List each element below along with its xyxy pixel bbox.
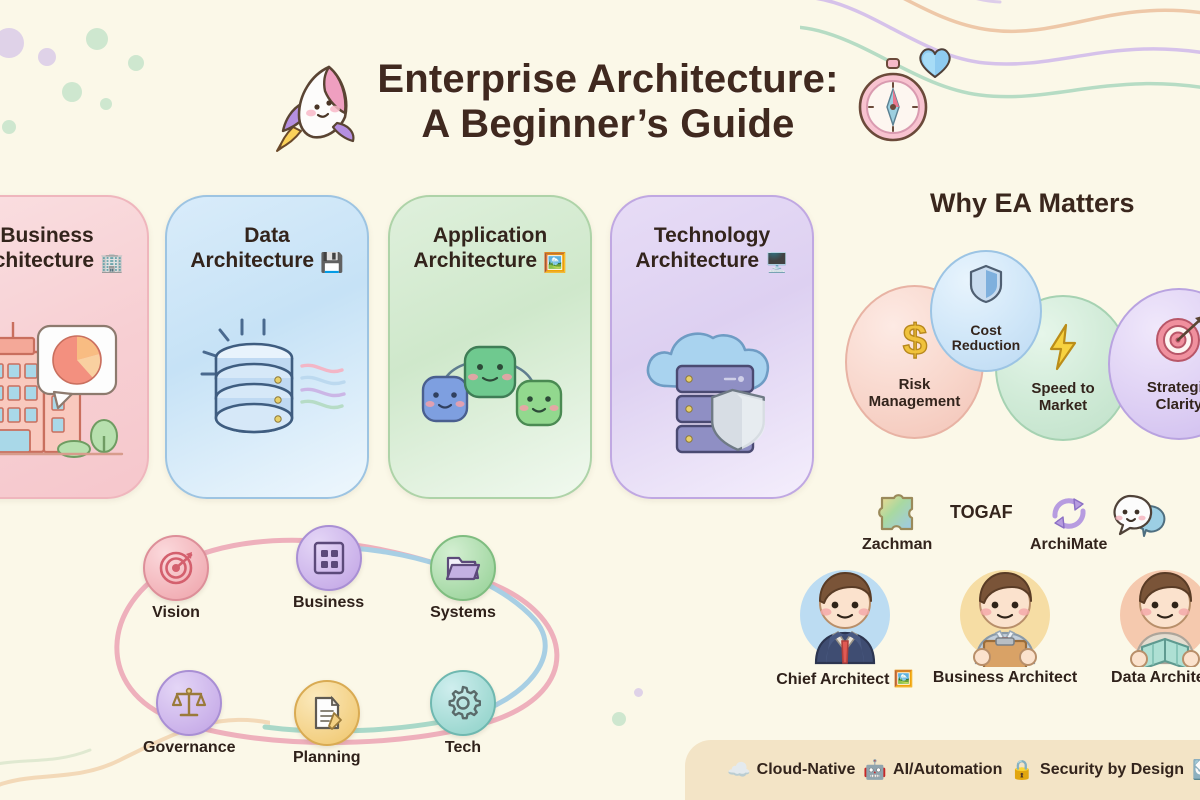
dollar-sign-icon: $ xyxy=(893,315,937,365)
trend-cloud-native[interactable]: ☁️ Cloud-Native xyxy=(727,761,855,780)
svg-text:$: $ xyxy=(902,316,926,365)
pillar-title: Technology Architecture 🖥️ xyxy=(629,223,794,276)
trend-security-by-design[interactable]: 🔒 Security by Design xyxy=(1010,761,1184,780)
title-line-2: A Beginner’s Guide xyxy=(377,102,838,147)
cycle-node-label: Vision xyxy=(152,604,200,622)
avatar xyxy=(1106,555,1200,667)
pillar-illustration-technology xyxy=(612,276,812,497)
framework-label: TOGAF xyxy=(950,502,1013,523)
decor-dot xyxy=(634,688,643,697)
trend-label: Cloud-Native xyxy=(757,761,856,779)
pillar-illustration-data xyxy=(167,276,367,497)
scales-balance-icon xyxy=(171,685,207,721)
pillar-title: Application Architecture 🖼️ xyxy=(407,223,572,276)
gear-icon xyxy=(445,685,481,721)
role-label: Data Architect xyxy=(1111,669,1200,687)
cycle-node-tech[interactable]: Tech xyxy=(430,670,496,757)
pillar-card-data-architecture[interactable]: Data Architecture 💾 xyxy=(165,195,369,499)
benefit-label: Cost Reduction xyxy=(952,323,1020,370)
framework-label: ArchiMate xyxy=(1030,536,1107,554)
decor-dot xyxy=(128,55,144,71)
role-business-architect[interactable]: Business Architect xyxy=(930,555,1080,687)
role-label: Chief Architect 🖼️ xyxy=(776,669,914,689)
pillar-illustration-business xyxy=(0,276,147,497)
framework-chat-bubble[interactable] xyxy=(1110,494,1172,538)
benefit-bubble-strategic-clarity[interactable]: Strategic Clarity xyxy=(1108,288,1200,440)
pillar-card-business-architecture[interactable]: Business Architecture 🏢 xyxy=(0,195,149,499)
framework-label: Zachman xyxy=(862,536,932,554)
cycle-node-governance[interactable]: Governance xyxy=(143,670,235,757)
title-line-1: Enterprise Architecture: xyxy=(377,57,838,102)
framed-picture-icon: 🖼️ xyxy=(894,671,914,688)
pillar-title-line-1: Technology xyxy=(654,224,770,247)
cycle-node-label: Tech xyxy=(445,739,481,757)
office-building-icon: 🏢 xyxy=(100,253,124,274)
lock-icon: 🔒 xyxy=(1010,761,1034,780)
cycle-node-label: Governance xyxy=(143,739,235,757)
avatar xyxy=(786,555,904,667)
role-label: Business Architect xyxy=(933,669,1077,687)
pillar-card-technology-architecture[interactable]: Technology Architecture 🖥️ xyxy=(610,195,814,499)
framework-archimate[interactable]: ArchiMate xyxy=(1030,492,1107,554)
rocket-icon xyxy=(267,47,363,157)
circular-arrows-icon xyxy=(1046,492,1092,534)
benefit-label: Speed to Market xyxy=(1031,381,1094,439)
pillar-title-line-2: Architecture xyxy=(413,249,537,272)
puzzle-piece-icon xyxy=(874,492,920,534)
cycle-node-label: Planning xyxy=(293,749,361,767)
target-icon xyxy=(158,550,194,586)
pillar-title-line-1: Application xyxy=(433,224,547,247)
ea-lifecycle-diagram: Vision Business xyxy=(75,515,620,800)
robot-icon: 🤖 xyxy=(863,761,887,780)
pillar-title: Data Architecture 💾 xyxy=(184,223,349,276)
why-ea-matters-heading: Why EA Matters xyxy=(930,188,1135,219)
cycle-node-label: Business xyxy=(293,594,364,612)
decor-dot xyxy=(62,82,82,102)
blue-heart-icon xyxy=(915,42,955,82)
decor-dot xyxy=(100,98,112,110)
decor-dot xyxy=(0,28,24,58)
cycle-node-label: Systems xyxy=(430,604,496,622)
pillar-title-line-2: Architecture xyxy=(635,249,759,272)
cycle-node-vision[interactable]: Vision xyxy=(143,535,209,622)
cycle-node-business[interactable]: Business xyxy=(293,525,364,612)
trend-label: AI/Automation xyxy=(893,761,1002,779)
pillar-title-line-1: Business xyxy=(0,224,93,247)
pillar-card-application-architecture[interactable]: Application Architecture 🖼️ xyxy=(388,195,592,499)
trend-label: Security by Design xyxy=(1040,761,1184,779)
pillar-title-line-2: Architecture xyxy=(190,249,314,272)
cycle-node-planning[interactable]: Planning xyxy=(293,680,361,767)
avatar xyxy=(946,555,1064,667)
framework-togaf[interactable]: TOGAF xyxy=(950,500,1013,523)
pillar-title-line-1: Data xyxy=(244,224,290,247)
decor-dot xyxy=(2,120,16,134)
folder-icon xyxy=(445,552,481,584)
pillar-illustration-application xyxy=(390,276,590,497)
framed-picture-icon: 🖼️ xyxy=(543,253,567,274)
decor-dot xyxy=(86,28,108,50)
lightning-bolt-icon xyxy=(1046,323,1080,371)
pillar-title: Business Architecture 🏢 xyxy=(0,223,130,276)
speech-bubble-face-icon xyxy=(1110,494,1172,538)
benefit-label: Strategic Clarity xyxy=(1147,380,1200,438)
trend-ai-automation[interactable]: 🤖 AI/Automation xyxy=(863,761,1002,780)
decor-dot xyxy=(38,48,56,66)
benefit-bubble-cost-reduction[interactable]: Cost Reduction xyxy=(930,250,1042,372)
benefit-label: Risk Management xyxy=(869,377,961,437)
trends-banner: ☁️ Cloud-Native 🤖 AI/Automation 🔒 Securi… xyxy=(685,740,1200,800)
cloud-icon: ☁️ xyxy=(727,761,751,780)
refresh-arrows-icon: 🔄 xyxy=(1192,761,1200,780)
trend-continuous[interactable]: 🔄 xyxy=(1192,761,1200,780)
building-grid-icon xyxy=(312,540,346,576)
title-text: Enterprise Architecture: A Beginner’s Gu… xyxy=(377,57,838,147)
target-dartboard-icon xyxy=(1154,314,1200,364)
pillar-title-line-2: Architecture xyxy=(0,249,94,272)
infographic-canvas: Enterprise Architecture: A Beginner’s Gu… xyxy=(0,0,1200,800)
framework-zachman[interactable]: Zachman xyxy=(862,492,932,554)
document-pencil-icon xyxy=(310,695,344,731)
role-data-architect[interactable]: Data Architect xyxy=(1090,555,1200,687)
floppy-disk-icon: 💾 xyxy=(320,253,344,274)
desktop-computer-icon: 🖥️ xyxy=(765,253,789,274)
role-chief-architect[interactable]: Chief Architect 🖼️ xyxy=(770,555,920,689)
page-title: Enterprise Architecture: A Beginner’s Gu… xyxy=(250,32,950,172)
cycle-node-systems[interactable]: Systems xyxy=(430,535,496,622)
shield-icon xyxy=(968,264,1004,304)
